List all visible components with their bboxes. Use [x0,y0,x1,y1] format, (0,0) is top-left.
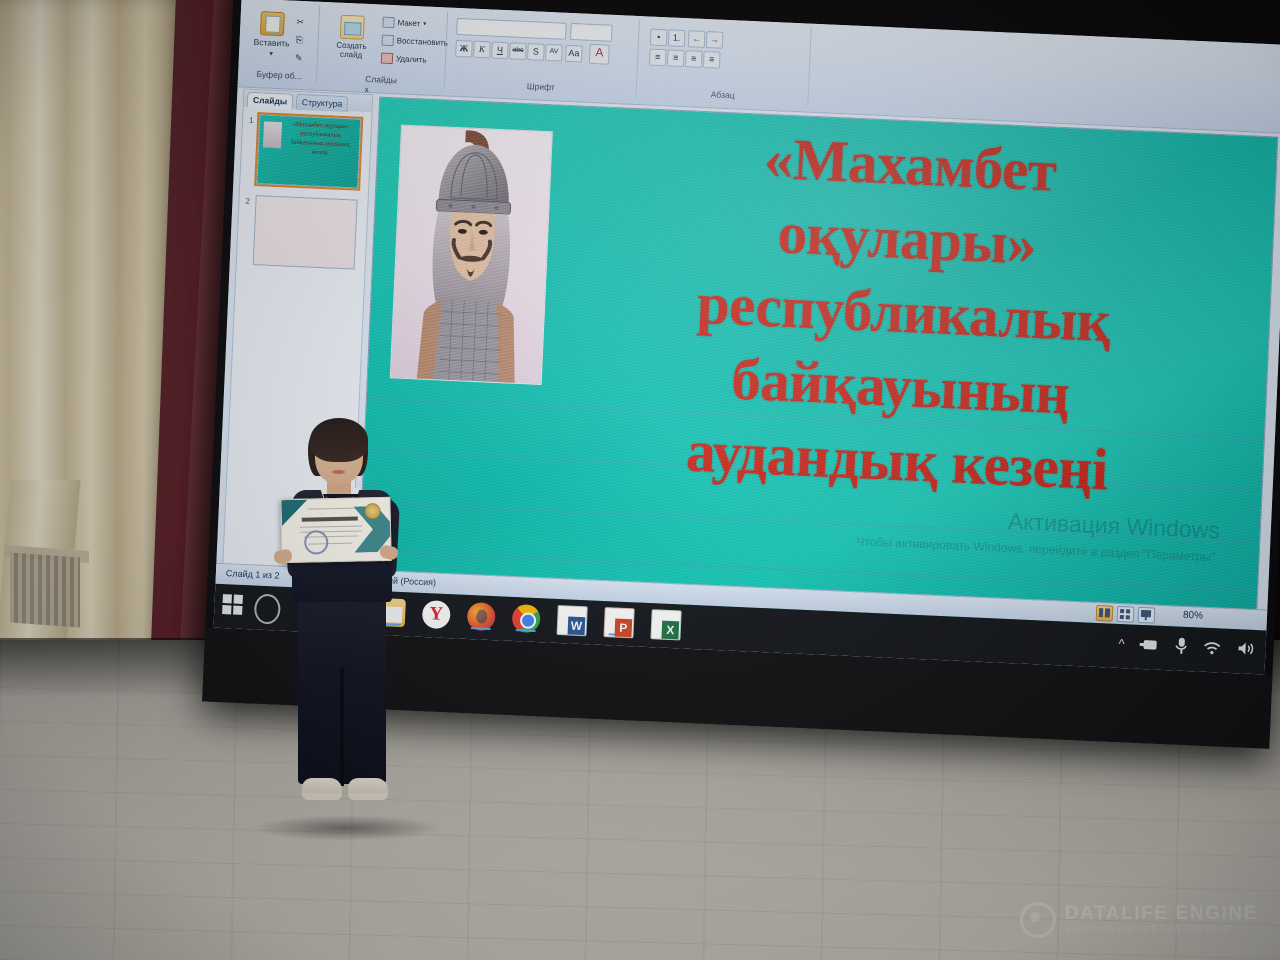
zoom-level[interactable]: 80% [1183,610,1203,622]
normal-view-button[interactable] [1096,605,1114,622]
chrome-icon[interactable] [512,604,541,633]
cut-icon[interactable]: ✂ [296,17,304,28]
underline-button[interactable]: Ч [491,41,509,59]
watermark-subtitle: SOFTNEWS MEDIA GROUP [1065,924,1258,936]
delete-label: Удалить [396,54,427,64]
certificate-diploma [280,497,391,563]
excel-icon[interactable] [650,609,681,640]
new-slide-button[interactable]: Создать слайд [327,14,377,60]
makhambet-portrait-image[interactable] [390,125,553,386]
font-color-button[interactable]: A [589,44,610,65]
microphone-icon[interactable] [1174,636,1188,655]
watermark-title: DATALIFE ENGINE [1065,904,1258,924]
layout-button[interactable]: Макет ▾ [382,17,426,30]
italic-button[interactable]: К [473,41,491,59]
reset-button[interactable]: Восстановить [382,35,449,49]
trouser-leg-gap [340,668,344,786]
bullets-button[interactable]: • [650,29,668,47]
copy-icon[interactable]: ⎘ [295,35,303,46]
strikethrough-button[interactable]: abc [509,42,527,60]
student-person [268,418,418,828]
new-slide-icon [340,15,365,40]
usb-device-icon[interactable] [1139,636,1160,653]
ribbon-group-font: Ж К Ч abc S AV Aa A Шрифт [446,12,640,98]
slides-group-label: Слайды [318,72,444,88]
delete-icon [381,53,393,65]
font-size-combo[interactable] [570,23,613,42]
radiator [10,553,80,628]
layout-icon [382,17,394,29]
layout-caret[interactable]: ▾ [423,20,426,27]
hair-top [310,418,368,462]
system-tray: ^ [1118,634,1256,658]
start-button[interactable] [222,594,245,617]
volume-icon[interactable] [1236,640,1256,657]
powerpoint-icon[interactable] [603,607,634,638]
certificate-recipient-name [302,517,358,522]
justify-button[interactable]: ≡ [703,51,721,69]
layout-label: Макет [397,18,420,28]
paste-icon [260,11,285,36]
paste-dropdown-caret[interactable]: ▾ [269,50,273,58]
left-shoe [302,778,342,800]
slide-thumbnail-2[interactable] [253,195,358,269]
windows-activation-watermark: Активация Windows Чтобы активировать Win… [856,501,1221,571]
close-pane-button[interactable]: x [364,85,368,94]
text-shadow-button[interactable]: S [527,43,545,61]
character-spacing-button[interactable]: AV [545,44,563,62]
thumbnail-portrait-image [263,121,282,148]
thumbnail-number: 2 [245,197,250,206]
format-painter-icon[interactable]: ✎ [295,53,303,64]
warrior-illustration [391,126,552,384]
paragraph-group-label: Абзац [638,86,808,104]
slide-thumbnail-1[interactable]: «Махамбет оқулары» республикалық байқауы… [256,114,361,188]
tab-slides[interactable]: Слайды [247,92,294,110]
firefox-icon[interactable] [467,602,496,631]
thumbnail-title-text: «Махамбет оқулары» республикалық байқауы… [283,119,359,158]
slide-editing-canvas[interactable]: «Махамбет оқулары» республикалық байқауы… [357,97,1278,633]
align-center-button[interactable]: ≡ [667,49,685,67]
increase-indent-button[interactable]: → [706,31,724,49]
reset-label: Восстановить [397,36,449,47]
show-hidden-icons-chevron[interactable]: ^ [1118,635,1125,650]
wifi-icon[interactable] [1202,639,1222,655]
bold-button[interactable]: Ж [455,40,473,58]
align-right-button[interactable]: ≡ [685,50,703,68]
datalife-eye-logo-icon [1020,902,1056,938]
numbering-button[interactable]: 1. [668,29,686,47]
yandex-browser-icon[interactable]: Y [422,600,451,629]
new-slide-label: Создать слайд [327,40,376,60]
right-shoe [348,778,388,800]
ribbon-group-clipboard: Вставить ▾ ✂ ⎘ ✎ Буфер об... [242,2,320,83]
certificate-corner-decoration [281,500,308,527]
delete-slide-button[interactable]: Удалить [381,53,427,66]
reset-icon [382,35,394,47]
word-icon[interactable] [556,605,587,636]
slide-sorter-button[interactable] [1117,606,1135,623]
decrease-indent-button[interactable]: ← [688,30,706,48]
slide-title-line-1: «Махамбет [763,125,1058,204]
slide-show-button[interactable] [1138,607,1156,624]
ribbon-group-paragraph: • 1. ← → ≡ ≡ ≡ ≡ Абзац [637,20,811,106]
tab-outline[interactable]: Структура [296,94,349,112]
view-buttons [1096,605,1156,624]
slide-pane-tabs: Слайды Структура [244,90,373,113]
clipboard-group-label: Буфер об... [242,68,316,81]
change-case-button[interactable]: Aa [565,45,583,63]
align-left-button[interactable]: ≡ [649,49,667,67]
photo-scene: Вставить ▾ ✂ ⎘ ✎ Буфер об... Создать сла… [0,0,1280,960]
slide-title-text[interactable]: «Махамбет оқулары» республикалық байқауы… [543,112,1264,513]
font-family-combo[interactable] [456,18,567,40]
thumbnail-number: 1 [249,116,254,125]
paste-label: Вставить [253,37,289,49]
datalife-engine-watermark: DATALIFE ENGINE SOFTNEWS MEDIA GROUP [1020,902,1258,938]
ribbon-group-slides: Создать слайд Макет ▾ Восстановить [318,6,448,90]
paste-button[interactable]: Вставить ▾ [253,11,291,59]
font-group-label: Шрифт [446,77,636,95]
lips [332,470,345,474]
